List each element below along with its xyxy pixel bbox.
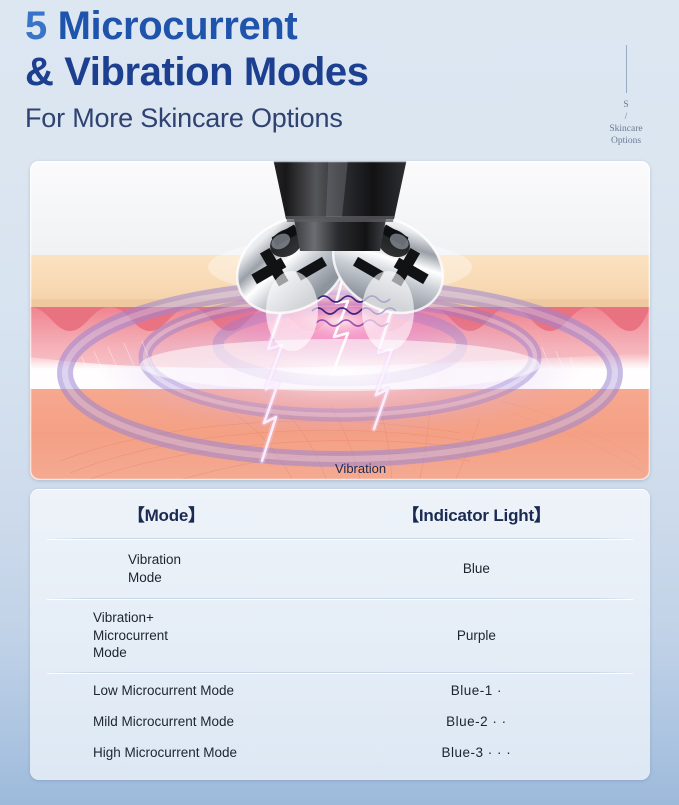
stamp-line-1: S [587, 99, 665, 111]
table-row: High Microcurrent Mode Blue-3 · · · [30, 737, 650, 768]
mode-indicator-table: 【Mode】 【Indicator Light】 Vibration Mode … [30, 489, 650, 780]
page-subtitle: For More Skincare Options [25, 101, 655, 135]
table-row: Vibration+ Microcurrent Mode Purple [30, 599, 650, 672]
title-line-1-text: Microcurrent [47, 4, 297, 48]
vertical-rule-divider [626, 45, 627, 93]
cell-mode: Mild Microcurrent Mode [30, 713, 303, 731]
stamp-line-3: Skincare [587, 123, 665, 135]
illustration-graphic [30, 161, 650, 480]
table-row: Mild Microcurrent Mode Blue-2 · · [30, 706, 650, 737]
cell-mode: Vibration Mode [30, 551, 303, 586]
cell-mode: Low Microcurrent Mode [30, 682, 303, 700]
title-count: 5 [25, 4, 47, 48]
skin-cross-section-illustration: Vibration Microcurrent [30, 161, 650, 480]
table-row: Vibration Mode Blue [30, 539, 650, 598]
page-title-line-1: 5 Microcurrent [25, 4, 655, 48]
vibration-label: Vibration [335, 461, 386, 476]
mode-line-2: Mode [128, 569, 303, 587]
cell-indicator-light: Purple [303, 627, 650, 645]
cell-indicator-light: Blue-2 · · [303, 713, 650, 731]
column-header-indicator-light: 【Indicator Light】 [303, 501, 650, 526]
cell-mode: Vibration+ Microcurrent Mode [30, 609, 303, 662]
column-header-mode: 【Mode】 [30, 501, 303, 526]
page-header: 5 Microcurrent & Vibration Modes For Mor… [25, 4, 655, 152]
stamp-line-4: Options [587, 135, 665, 147]
cell-indicator-light: Blue-1 · [303, 682, 650, 700]
stamp-line-2: / [587, 111, 665, 123]
table-row: Low Microcurrent Mode Blue-1 · [30, 675, 650, 706]
mode-line-3: Mode [93, 644, 303, 662]
microcurrent-level-rows: Low Microcurrent Mode Blue-1 · Mild Micr… [30, 673, 650, 768]
mode-line-1: Vibration [128, 551, 303, 569]
skincare-options-stamp: S / Skincare Options [587, 45, 665, 147]
page-title-line-2: & Vibration Modes [25, 49, 655, 95]
cell-mode: High Microcurrent Mode [30, 744, 303, 762]
mode-line-2: Microcurrent [93, 627, 303, 645]
table-header-row: 【Mode】 【Indicator Light】 [30, 489, 650, 538]
cell-indicator-light: Blue-3 · · · [303, 744, 650, 762]
cell-indicator-light: Blue [303, 560, 650, 578]
mode-line-1: Vibration+ [93, 609, 303, 627]
